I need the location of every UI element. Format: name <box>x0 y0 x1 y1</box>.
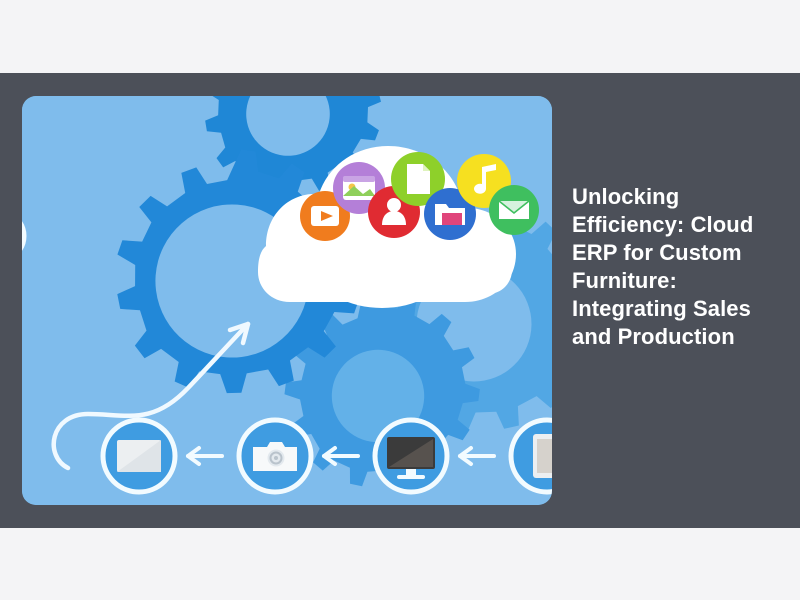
device-node-camera <box>239 420 311 492</box>
cloud-erp-devices-illustration <box>22 96 552 505</box>
device-node-monitor <box>375 420 447 492</box>
mail-envelope-icon <box>489 185 539 235</box>
article-title: Unlocking Efficiency: Cloud ERP for Cust… <box>572 183 782 351</box>
illustration-card <box>22 96 552 505</box>
page-root: Unlocking Efficiency: Cloud ERP for Cust… <box>0 0 800 600</box>
device-node-tablet <box>103 420 175 492</box>
